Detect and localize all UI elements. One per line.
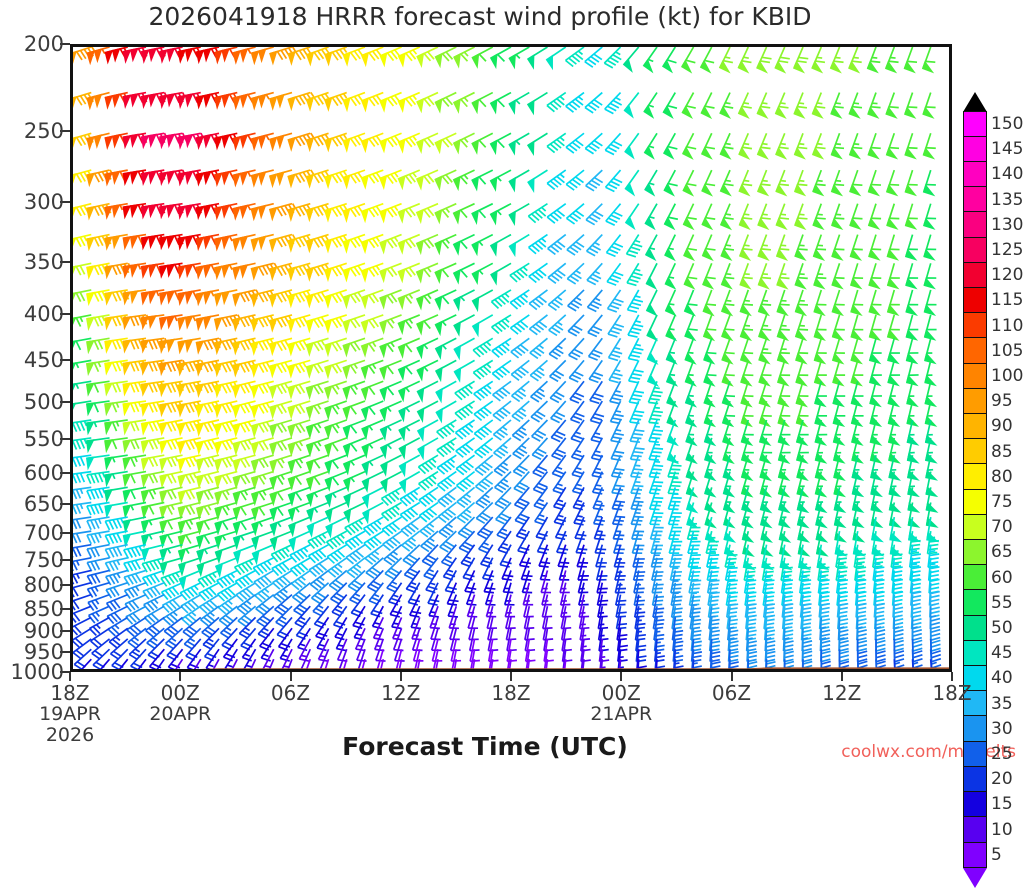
y-axis-tick-label: 450 [0, 348, 64, 372]
y-axis-tick-label: 350 [0, 250, 64, 274]
colorbar-cells: 1501451401351301251201151101051009590858… [963, 111, 987, 868]
y-axis-tick-label: 700 [0, 521, 64, 545]
colorbar-cell: 95 [963, 388, 987, 415]
colorbar-cell: 80 [963, 463, 987, 490]
colorbar-tick-label: 80 [991, 467, 1013, 487]
colorbar-over-arrow [963, 92, 987, 112]
x-axis-tick-label: 12Z [341, 683, 461, 704]
y-axis-tick-label: 650 [0, 492, 64, 516]
colorbar-tick-label: 25 [991, 744, 1013, 764]
colorbar-cell: 105 [963, 337, 987, 364]
colorbar-cell: 120 [963, 262, 987, 289]
x-axis-tick-label: 18Z [451, 683, 571, 704]
colorbar-cell: 140 [963, 161, 987, 188]
colorbar-tick-label: 95 [991, 391, 1013, 411]
colorbar-cell: 30 [963, 715, 987, 742]
y-axis-tick-label: 200 [0, 32, 64, 56]
colorbar-tick-label: 135 [991, 190, 1023, 210]
colorbar-cell: 20 [963, 766, 987, 793]
x-axis-tick-label: 06Z [672, 683, 792, 704]
terrain-layer [73, 47, 949, 669]
colorbar-tick-label: 45 [991, 643, 1013, 663]
colorbar-under-arrow [963, 868, 987, 888]
x-axis-tick [951, 672, 953, 681]
barb-canvas [73, 47, 949, 669]
colorbar-tick-label: 90 [991, 416, 1013, 436]
colorbar-tick-label: 5 [991, 845, 1002, 865]
colorbar-cell: 135 [963, 186, 987, 213]
colorbar-cell: 100 [963, 363, 987, 390]
y-axis-tick-label: 550 [0, 427, 64, 451]
x-axis-tick [731, 672, 733, 681]
colorbar-tick-label: 110 [991, 316, 1023, 336]
colorbar-cell: 50 [963, 615, 987, 642]
colorbar-cell: 5 [963, 842, 987, 869]
credit-watermark: coolwx.com/modelts [841, 742, 1016, 762]
x-axis-tick [510, 672, 512, 681]
x-axis-tick-label: 18Z19APR2026 [10, 683, 130, 746]
y-axis-tick-label: 850 [0, 597, 64, 621]
colorbar-tick-label: 20 [991, 769, 1013, 789]
colorbar-tick-label: 30 [991, 719, 1013, 739]
y-axis-tick-label: 400 [0, 302, 64, 326]
y-axis-tick-label: 250 [0, 119, 64, 143]
colorbar-tick-label: 15 [991, 794, 1013, 814]
colorbar-cell: 130 [963, 211, 987, 238]
colorbar-cell: 110 [963, 312, 987, 339]
colorbar-cell: 75 [963, 489, 987, 516]
colorbar-cell: 65 [963, 539, 987, 566]
colorbar-cell: 85 [963, 438, 987, 465]
x-axis-tick [179, 672, 181, 681]
colorbar-cell: 125 [963, 237, 987, 264]
x-axis-title: Forecast Time (UTC) [140, 732, 830, 761]
colorbar-cell: 55 [963, 589, 987, 616]
colorbar-tick-label: 150 [991, 114, 1023, 134]
x-axis-tick [620, 672, 622, 681]
colorbar-tick-label: 65 [991, 542, 1013, 562]
x-axis-tick-label: 12Z [782, 683, 902, 704]
x-axis-tick-label: 00Z21APR [561, 683, 681, 725]
y-axis-tick-label: 800 [0, 573, 64, 597]
colorbar-tick-label: 100 [991, 366, 1023, 386]
colorbar-cell: 70 [963, 514, 987, 541]
y-axis-tick-label: 300 [0, 190, 64, 214]
colorbar-tick-label: 55 [991, 593, 1013, 613]
colorbar-tick-label: 60 [991, 568, 1013, 588]
colorbar-tick-label: 125 [991, 240, 1023, 260]
x-axis-tick [290, 672, 292, 681]
x-axis-tick [400, 672, 402, 681]
colorbar-cell: 60 [963, 564, 987, 591]
colorbar-tick-label: 75 [991, 492, 1013, 512]
colorbar: 1501451401351301251201151101051009590858… [963, 92, 987, 888]
x-axis-tick-label: 18Z [892, 683, 1012, 704]
colorbar-tick-label: 140 [991, 164, 1023, 184]
colorbar-cell: 25 [963, 741, 987, 768]
y-axis-tick-label: 500 [0, 390, 64, 414]
x-axis-tick-label: 06Z [231, 683, 351, 704]
y-axis-tick-label: 600 [0, 461, 64, 485]
wind-profile-chart: 2026041918 HRRR forecast wind profile (k… [0, 0, 1024, 768]
colorbar-tick-label: 145 [991, 139, 1023, 159]
x-axis-tick-label: 00Z20APR [120, 683, 240, 725]
colorbar-tick-label: 130 [991, 215, 1023, 235]
terrain-fill [73, 667, 949, 669]
x-axis-tick [69, 672, 71, 681]
x-axis-tick [841, 672, 843, 681]
colorbar-tick-label: 50 [991, 618, 1013, 638]
colorbar-tick-label: 105 [991, 341, 1023, 361]
colorbar-cell: 145 [963, 136, 987, 163]
colorbar-tick-label: 115 [991, 290, 1023, 310]
colorbar-tick-label: 10 [991, 820, 1013, 840]
colorbar-cell: 45 [963, 640, 987, 667]
colorbar-tick-label: 85 [991, 442, 1013, 462]
colorbar-cell: 90 [963, 413, 987, 440]
colorbar-tick-label: 120 [991, 265, 1023, 285]
colorbar-cell: 115 [963, 287, 987, 314]
colorbar-tick-label: 70 [991, 517, 1013, 537]
colorbar-cell: 10 [963, 816, 987, 843]
plot-area [70, 44, 952, 672]
chart-title: 2026041918 HRRR forecast wind profile (k… [0, 2, 960, 31]
colorbar-cell: 150 [963, 111, 987, 138]
y-axis-tick-label: 750 [0, 548, 64, 572]
colorbar-cell: 15 [963, 791, 987, 818]
